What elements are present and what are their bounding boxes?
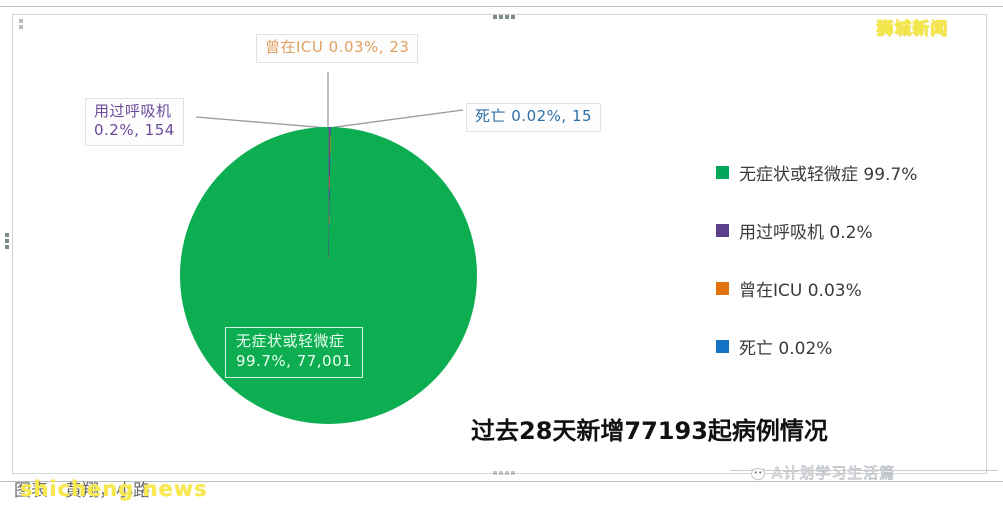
legend-item-ventilator[interactable]: 用过呼吸机 0.2% xyxy=(716,218,966,243)
selection-handle-left[interactable] xyxy=(4,232,10,250)
data-label-mild[interactable]: 无症状或轻微症 99.7%, 77,001 xyxy=(225,327,363,378)
legend-label-ventilator: 用过呼吸机 0.2% xyxy=(739,218,873,243)
wechat-face-icon xyxy=(748,465,768,481)
chart-legend[interactable]: 无症状或轻微症 99.7% 用过呼吸机 0.2% 曾在ICU 0.03% 死亡 … xyxy=(716,160,966,359)
selection-handle-top[interactable] xyxy=(492,14,516,20)
watermark-bottom-left: shicheng news xyxy=(20,477,208,501)
chart-credit: 图表：黄翔，小路 shicheng news xyxy=(14,476,294,502)
data-label-mild-line1: 无症状或轻微症 xyxy=(236,332,352,352)
legend-label-death: 死亡 0.02% xyxy=(739,334,832,359)
legend-swatch-mild xyxy=(716,166,729,179)
legend-item-death[interactable]: 死亡 0.02% xyxy=(716,334,966,359)
selection-handle-top-left[interactable] xyxy=(18,18,24,30)
selection-handle-bottom[interactable] xyxy=(492,470,516,476)
legend-item-icu[interactable]: 曾在ICU 0.03% xyxy=(716,276,966,301)
data-label-icu-text: 曾在ICU 0.03%, 23 xyxy=(265,38,409,57)
data-label-ventilator-line2: 0.2%, 154 xyxy=(94,121,175,140)
data-label-death[interactable]: 死亡 0.02%, 15 xyxy=(466,103,601,132)
watermark-bottom-right-text: A计划学习生活篇 xyxy=(772,462,895,483)
data-label-icu[interactable]: 曾在ICU 0.03%, 23 xyxy=(256,34,418,63)
data-label-ventilator[interactable]: 用过呼吸机 0.2%, 154 xyxy=(85,98,184,146)
data-label-mild-line2: 99.7%, 77,001 xyxy=(236,352,352,372)
watermark-bottom-right: A计划学习生活篇 xyxy=(748,462,895,483)
slide-canvas: 曾在ICU 0.03%, 23 用过呼吸机 0.2%, 154 死亡 0.02%… xyxy=(0,0,1003,514)
legend-item-mild[interactable]: 无症状或轻微症 99.7% xyxy=(716,160,966,185)
pie-slice-divider xyxy=(180,127,477,424)
chart-title: 过去28天新增77193起病例情况 xyxy=(471,411,828,446)
legend-swatch-ventilator xyxy=(716,224,729,237)
legend-swatch-icu xyxy=(716,282,729,295)
pie-chart[interactable] xyxy=(180,127,477,424)
legend-label-mild: 无症状或轻微症 99.7% xyxy=(739,160,917,185)
data-label-death-text: 死亡 0.02%, 15 xyxy=(475,107,592,126)
legend-label-icu: 曾在ICU 0.03% xyxy=(739,276,862,301)
watermark-top-right: 狮城新闻 xyxy=(876,14,948,39)
data-label-ventilator-line1: 用过呼吸机 xyxy=(94,102,175,121)
legend-swatch-death xyxy=(716,340,729,353)
